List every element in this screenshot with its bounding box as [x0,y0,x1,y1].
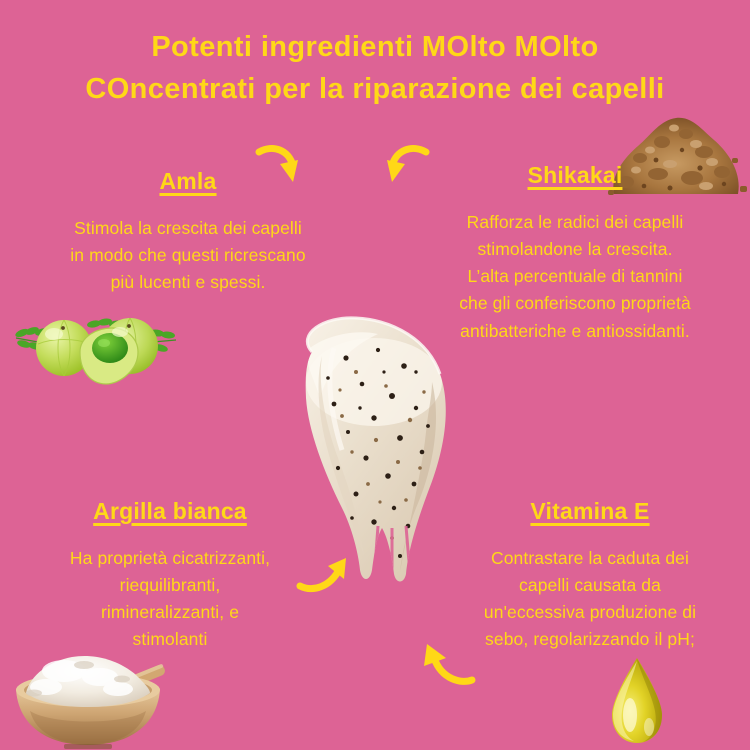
section-shikakai-line-3: L’alta percentuale di tannini [400,263,750,290]
curved-arrow-down-right-icon [255,140,305,193]
section-argilla-bianca-line-4: stimolanti [10,626,330,653]
white-clay-bowl-image [0,645,175,750]
page-title-line-1: Potenti ingredienti MOlto MOlto [14,26,736,68]
section-vitamina-e-line-3: un'eccessiva produzione di [430,599,750,626]
section-amla-line-3: più lucenti e spessi. [18,269,358,296]
section-argilla-bianca-heading: Argilla bianca [93,498,247,525]
amla-gooseberry-image [8,302,183,397]
section-shikakai-line-2: stimolandone la crescita. [400,236,750,263]
section-amla-line-2: in modo che questi ricrescano [18,242,358,269]
section-argilla-bianca-line-3: rimineralizzanti, e [10,599,330,626]
section-vitamina-e-body: Contrastare la caduta dei capelli causat… [430,545,750,654]
section-amla-body: Stimola la crescita dei capelli in modo … [18,215,358,296]
page-title: Potenti ingredienti MOlto MOlto COncentr… [0,26,750,110]
section-vitamina-e-heading: Vitamina E [530,498,649,525]
curved-arrow-down-left-icon [380,140,430,193]
poster-canvas: Potenti ingredienti MOlto MOlto COncentr… [0,0,750,750]
section-vitamina-e-line-4: sebo, regolarizzando il pH; [430,626,750,653]
section-vitamina-e: Vitamina E Contrastare la caduta dei cap… [430,498,750,654]
section-argilla-bianca-line-2: riequilibranti, [10,572,330,599]
section-shikakai: Shikakai Rafforza le radici dei capelli … [400,162,750,345]
section-argilla-bianca-body: Ha proprietà cicatrizzanti, riequilibran… [10,545,330,654]
section-vitamina-e-line-2: capelli causata da [430,572,750,599]
curved-arrow-up-right-icon [296,552,352,601]
vitamin-e-oil-drop-image [600,655,675,747]
page-title-line-2: COncentrati per la riparazione dei capel… [14,68,736,110]
section-amla: Amla Stimola la crescita dei capelli in … [18,168,358,296]
curved-arrow-up-left-icon [418,636,478,693]
section-argilla-bianca-line-1: Ha proprietà cicatrizzanti, [10,545,330,572]
section-shikakai-line-4: che gli conferiscono proprietà [400,290,750,317]
section-shikakai-body: Rafforza le radici dei capelli stimoland… [400,209,750,345]
section-shikakai-line-1: Rafforza le radici dei capelli [400,209,750,236]
section-argilla-bianca: Argilla bianca Ha proprietà cicatrizzant… [10,498,330,654]
section-vitamina-e-line-1: Contrastare la caduta dei [430,545,750,572]
section-amla-heading: Amla [159,168,216,195]
section-amla-line-1: Stimola la crescita dei capelli [18,215,358,242]
section-shikakai-line-5: antibatteriche e antiossidanti. [400,318,750,345]
section-shikakai-heading: Shikakai [528,162,623,189]
